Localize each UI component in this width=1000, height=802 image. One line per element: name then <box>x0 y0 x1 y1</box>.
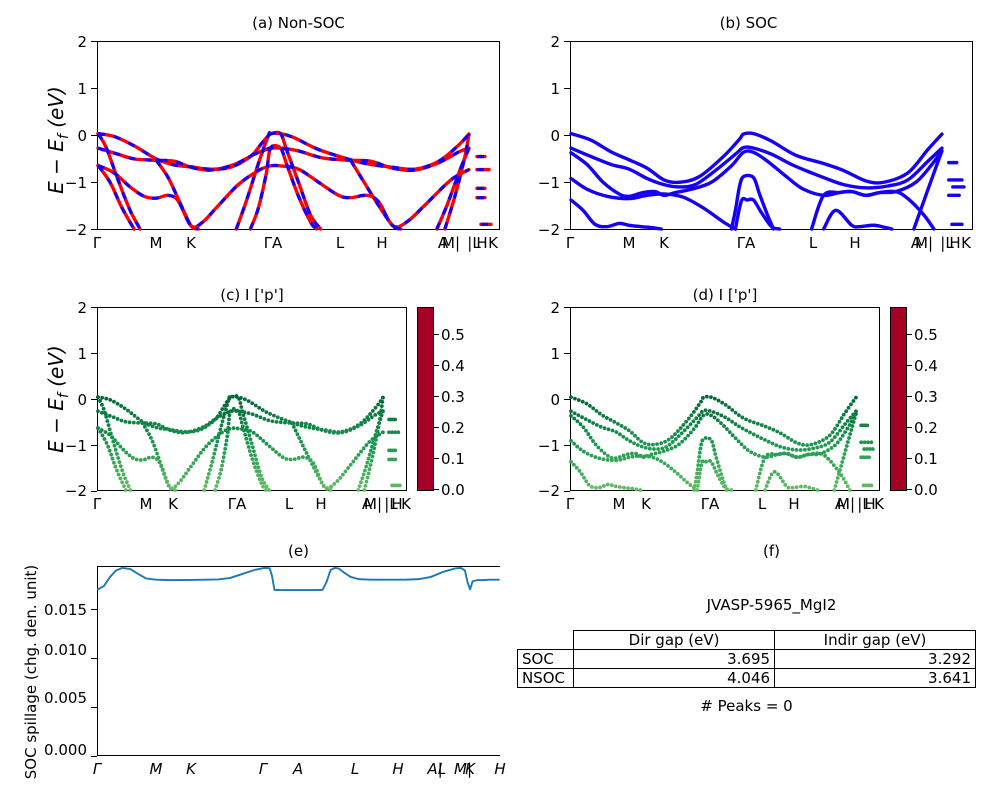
cbar-c-tick <box>434 396 439 397</box>
panel-a-bands <box>98 42 499 229</box>
panel-e-xtick-k2: K <box>455 760 485 778</box>
panel-b-axes <box>570 41 973 230</box>
nsoc-dir-gap: 4.046 <box>574 669 775 688</box>
panel-b-tick <box>564 41 570 42</box>
panel-a-xtick-h: H <box>367 234 397 252</box>
panel-b-tick <box>564 135 570 136</box>
panel-d-tick <box>564 399 570 400</box>
panel-a-xtick-m: M <box>141 234 171 252</box>
panel-d-xtick-mbar: M| <box>836 495 856 513</box>
panel-a-xtick-gamma-a: ΓA <box>255 234 291 252</box>
panel-e-xtick-h: H <box>383 760 413 778</box>
panel-a-xtick-l: L <box>325 234 355 252</box>
panel-c-xtick-l: L <box>274 495 304 513</box>
panel-c-axes <box>97 307 407 491</box>
panel-c-colorbar <box>417 307 434 491</box>
panel-c-ytick-1: 1 <box>55 345 87 363</box>
panel-e-xtick-gamma2: Γ <box>248 760 278 778</box>
cbar-d-tick <box>907 489 912 490</box>
panel-e-xtick-k: K <box>176 760 206 778</box>
panel-e-xtick-m: M <box>141 760 171 778</box>
panel-d-tick <box>564 307 570 308</box>
panel-b-ytick-1: 1 <box>528 80 560 98</box>
cbar-c-tick <box>434 334 439 335</box>
panel-d-ytick-0: 0 <box>528 391 560 409</box>
panel-a-axes <box>97 41 500 230</box>
panel-c-ytick-m1: −1 <box>48 437 87 455</box>
cbar-d-tick <box>907 427 912 428</box>
cbar-c-tick <box>434 489 439 490</box>
table-header-row: Dir gap (eV) Indir gap (eV) <box>518 631 976 650</box>
panel-a-tick <box>91 182 97 183</box>
panel-c-cbtick-00: 0.0 <box>441 481 465 499</box>
panel-e-xtick-gamma: Γ <box>82 760 112 778</box>
cbar-d-tick <box>907 365 912 366</box>
table-corner-cell <box>518 631 574 650</box>
panel-c-xtick-h: H <box>306 495 336 513</box>
row-label-nsoc: NSOC <box>518 669 574 688</box>
cbar-d-tick <box>907 334 912 335</box>
panel-d-ytick-1: 1 <box>528 345 560 363</box>
panel-c-xtick-k2: K <box>396 495 416 513</box>
panel-d-tick <box>564 353 570 354</box>
panel-e-xtick-h2: H <box>485 760 515 778</box>
panel-a-xtick-k2: K <box>483 234 503 252</box>
panel-c-cbtick-05: 0.5 <box>441 326 465 344</box>
panel-c-xtick-gamma-a: ΓA <box>219 495 255 513</box>
table-row: NSOC 4.046 3.641 <box>518 669 976 688</box>
panel-b-xtick-k: K <box>649 234 679 252</box>
panel-a-ytick-1: 1 <box>55 80 87 98</box>
panel-c-tick <box>91 491 97 492</box>
panel-c-xtick-m: M <box>131 495 161 513</box>
panel-d-tick <box>564 445 570 446</box>
panel-e-xtick-a: A <box>283 760 313 778</box>
panel-a-tick <box>91 229 97 230</box>
panel-b-xtick-gamma: Γ <box>555 234 585 252</box>
panel-c-ytick-0: 0 <box>55 391 87 409</box>
panel-c-scatter <box>98 308 406 490</box>
panel-c-xtick-k: K <box>158 495 188 513</box>
soc-dir-gap: 3.695 <box>574 650 775 669</box>
panel-e-ytick-0010: 0.010 <box>22 641 87 659</box>
panel-c-tick <box>91 307 97 308</box>
panel-f-title: (f) <box>570 542 973 560</box>
table-row: SOC 3.695 3.292 <box>518 650 976 669</box>
gap-table: Dir gap (eV) Indir gap (eV) SOC 3.695 3.… <box>517 630 976 688</box>
panel-d-colorbar <box>890 307 907 491</box>
panel-e-tick <box>91 609 97 610</box>
panel-c-cbtick-03: 0.3 <box>441 388 465 406</box>
panel-c-ytick-2: 2 <box>55 299 87 317</box>
panel-d-tick <box>564 491 570 492</box>
row-label-soc: SOC <box>518 650 574 669</box>
panel-d-ytick-m1: −1 <box>521 437 560 455</box>
cbar-c-tick <box>434 427 439 428</box>
panel-e-tick <box>91 756 97 757</box>
panel-d-cbtick-00: 0.0 <box>914 481 938 499</box>
panel-d-xtick-l: L <box>747 495 777 513</box>
panel-c-title: (c) I ['p'] <box>97 286 407 304</box>
cbar-d-tick <box>907 396 912 397</box>
panel-b-xtick-m: M <box>614 234 644 252</box>
panel-e-ytick-0005: 0.005 <box>22 689 87 707</box>
panel-c-xtick-mbar: M| <box>363 495 383 513</box>
panel-a-title: (a) Non-SOC <box>97 14 500 32</box>
panel-d-xtick-m: M <box>604 495 634 513</box>
panel-c-cbtick-04: 0.4 <box>441 357 465 375</box>
panel-b-tick <box>564 229 570 230</box>
panel-e-ytick-0015: 0.015 <box>22 601 87 619</box>
panel-b-xtick-mbar: M| <box>914 234 934 252</box>
panel-a-xtick-mbar: M| <box>441 234 461 252</box>
panel-e-topline <box>97 566 500 567</box>
panel-d-cbtick-02: 0.2 <box>914 419 938 437</box>
panel-d-xtick-k: K <box>631 495 661 513</box>
peaks-text: # Peaks = 0 <box>517 697 976 715</box>
panel-b-ytick-0: 0 <box>528 127 560 145</box>
panel-e-ytick-0000: 0.000 <box>22 741 87 759</box>
panel-b-xtick-h: H <box>840 234 870 252</box>
panel-c-tick <box>91 399 97 400</box>
panel-a-xtick-k: K <box>176 234 206 252</box>
panel-c-cbtick-01: 0.1 <box>441 450 465 468</box>
panel-d-cbtick-03: 0.3 <box>914 388 938 406</box>
panel-d-axes <box>570 307 880 491</box>
panel-b-bands <box>571 42 972 229</box>
panel-e-tick <box>91 658 97 659</box>
cbar-c-tick <box>434 458 439 459</box>
panel-d-xtick-gamma-a: ΓA <box>692 495 728 513</box>
panel-b-ytick-m1: −1 <box>521 174 560 192</box>
panel-c-tick <box>91 353 97 354</box>
panel-c-cbtick-02: 0.2 <box>441 419 465 437</box>
col-header-dir-gap: Dir gap (eV) <box>574 631 775 650</box>
panel-b-xtick-l: L <box>798 234 828 252</box>
panel-a-tick <box>91 135 97 136</box>
panel-e-xtick-l: L <box>340 760 370 778</box>
panel-d-cbtick-05: 0.5 <box>914 326 938 344</box>
panel-e-tick <box>91 707 97 708</box>
panel-a-tick <box>91 41 97 42</box>
panel-c-tick <box>91 445 97 446</box>
panel-a-ytick-0: 0 <box>55 127 87 145</box>
panel-d-xtick-h: H <box>779 495 809 513</box>
panel-d-cbtick-04: 0.4 <box>914 357 938 375</box>
nsoc-indir-gap: 3.641 <box>775 669 976 688</box>
panel-b-tick <box>564 182 570 183</box>
panel-a-ytick-2: 2 <box>55 33 87 51</box>
panel-d-cbtick-01: 0.1 <box>914 450 938 468</box>
panel-b-ytick-2: 2 <box>528 33 560 51</box>
cbar-d-tick <box>907 458 912 459</box>
panel-a-ytick-m1: −1 <box>48 174 87 192</box>
panel-a-xtick-gamma: Γ <box>82 234 112 252</box>
panel-d-xtick-k2: K <box>869 495 889 513</box>
cbar-c-tick <box>434 365 439 366</box>
col-header-indir-gap: Indir gap (eV) <box>775 631 976 650</box>
panel-d-xtick-gamma: Γ <box>555 495 585 513</box>
panel-d-title: (d) I ['p'] <box>570 286 880 304</box>
panel-b-xtick-k2: K <box>956 234 976 252</box>
panel-c-xtick-gamma: Γ <box>82 495 112 513</box>
panel-e-axes <box>97 566 500 756</box>
panel-d-scatter <box>571 308 879 490</box>
panel-a-tick <box>91 88 97 89</box>
panel-b-xtick-gamma-a: ΓA <box>728 234 764 252</box>
panel-b-title: (b) SOC <box>597 14 900 32</box>
panel-b-tick <box>564 88 570 89</box>
panel-d-ytick-2: 2 <box>528 299 560 317</box>
soc-indir-gap: 3.292 <box>775 650 976 669</box>
panel-e-line <box>98 566 499 755</box>
panel-e-ylabel: SOC spillage (chg. den. unit) <box>22 542 40 802</box>
panel-e-title: (e) <box>97 542 500 560</box>
material-label: JVASP-5965_MgI2 <box>570 596 973 614</box>
